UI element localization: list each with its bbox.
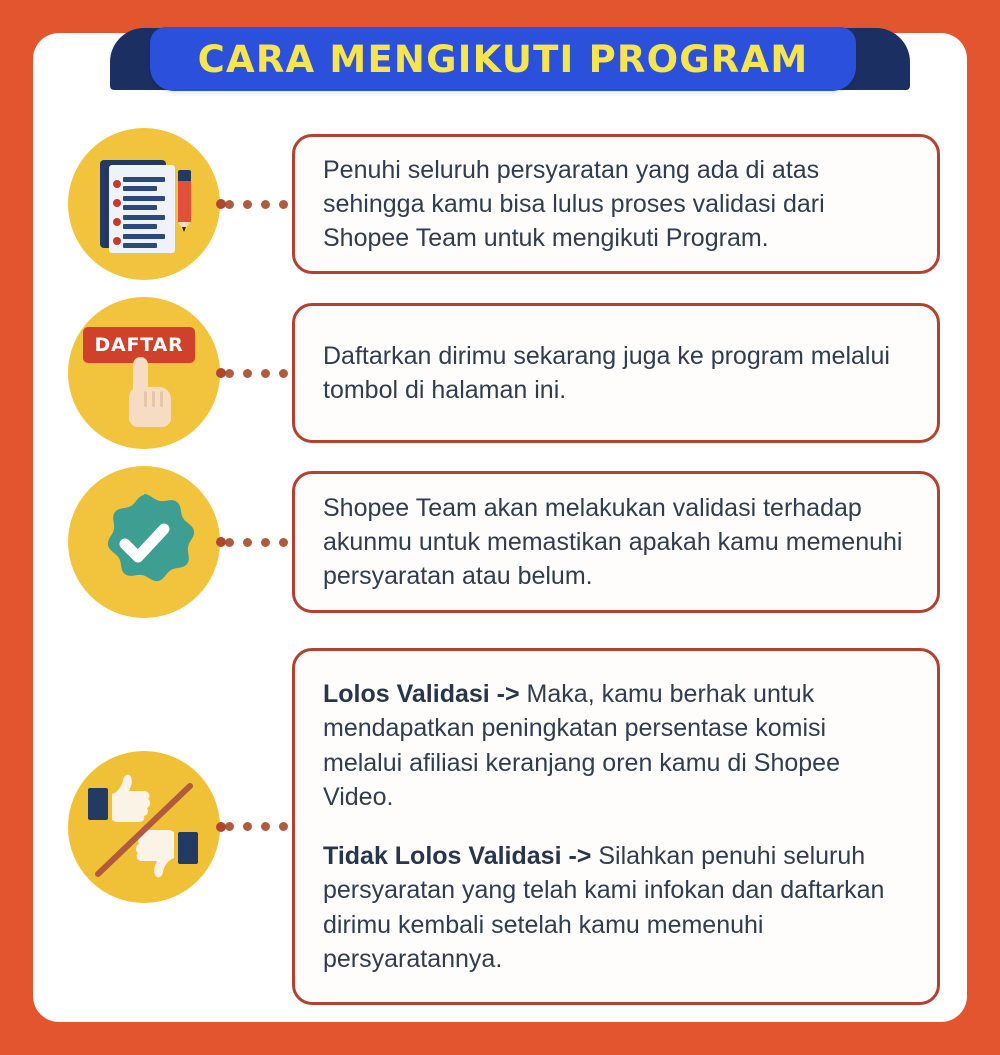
step-text-3: Shopee Team akan melakukan validasi terh… [323,491,911,594]
hand-knuckle-line [144,391,147,407]
pencil-eraser [178,170,191,181]
checklist-line [123,224,157,229]
checklist-bullet-icon [113,199,121,207]
tidak-lolos-validasi-label: Tidak Lolos Validasi -> [323,842,591,870]
register-button-hand-icon: DAFTAR [68,297,220,449]
checklist-line [123,215,165,220]
hand-knuckle-line [160,391,163,407]
thumbs-up-down-icon [68,751,220,903]
orbit-dot-icon [216,537,226,547]
infographic-poster: CARA MENGIKUTI PROGRAM [0,0,1000,1055]
verified-check-badge-icon [68,466,220,618]
page-title: CARA MENGIKUTI PROGRAM [198,41,809,78]
pencil-body [178,181,191,222]
document-glyph [92,152,196,256]
connector-dot [279,369,288,378]
connector-dot [261,369,270,378]
connector-dots-2 [220,369,292,378]
checklist-line [123,177,165,182]
connector-dot [261,538,270,547]
check-badge-glyph [92,490,196,594]
checklist-bullet-icon [113,218,121,226]
steps-list: Penuhi seluruh persyaratan yang ada di a… [0,0,1000,1055]
connector-dot [261,822,270,831]
connector-dot [243,822,252,831]
step-text-box-3: Shopee Team akan melakukan validasi terh… [292,471,940,613]
header-banner: CARA MENGIKUTI PROGRAM [150,27,856,91]
step-row-3: Shopee Team akan melakukan validasi terh… [68,466,940,618]
checklist-line [123,205,157,210]
orbit-dot-icon [216,199,226,209]
step-text-4-paragraph-1: Lolos Validasi -> Maka, kamu berhak untu… [323,677,911,814]
thumbs-glyph [84,768,204,886]
lolos-validasi-label: Lolos Validasi -> [323,680,520,708]
checklist-bullet-icon [113,237,121,245]
step-text-box-1: Penuhi seluruh persyaratan yang ada di a… [292,134,940,274]
daftar-glyph: DAFTAR [83,317,205,429]
connector-dot [243,369,252,378]
orbit-dot-icon [216,822,226,832]
orbit-dot-icon [216,368,226,378]
connector-dot [243,538,252,547]
connector-dot [261,200,270,209]
pointing-hand-icon [125,357,177,427]
step-text-4-paragraph-2: Tidak Lolos Validasi -> Silahkan penuhi … [323,839,911,976]
checklist-line [123,234,165,239]
connector-dots-3 [220,538,292,547]
checklist-document-icon [68,128,220,280]
header-ribbon: CARA MENGIKUTI PROGRAM [0,0,1000,120]
connector-dot [243,200,252,209]
step-row-1: Penuhi seluruh persyaratan yang ada di a… [68,128,940,280]
checklist-line [123,243,157,248]
connector-dot [279,200,288,209]
step-row-4: Lolos Validasi -> Maka, kamu berhak untu… [68,648,940,1005]
connector-dots-4 [220,822,292,831]
scalloped-badge-shape [92,490,196,594]
connector-dots-1 [220,200,292,209]
step-text-box-2: Daftarkan dirimu sekarang juga ke progra… [292,303,940,443]
pencil-point [182,227,186,232]
daftar-button-label: DAFTAR [94,334,183,356]
hand-palm [129,387,171,427]
connector-dot [279,538,288,547]
checklist-line [123,186,157,191]
step-text-2: Daftarkan dirimu sekarang juga ke progra… [323,339,911,408]
step-text-1: Penuhi seluruh persyaratan yang ada di a… [323,153,911,256]
step-text-box-4: Lolos Validasi -> Maka, kamu berhak untu… [292,648,940,1005]
hand-knuckle-line [152,391,155,407]
step-row-2: DAFTAR Dafta [68,297,940,449]
pencil-icon [178,170,191,236]
connector-dot [279,822,288,831]
checklist-bullet-icon [113,180,121,188]
thumbs-shapes [84,768,204,886]
checklist-line [123,196,165,201]
